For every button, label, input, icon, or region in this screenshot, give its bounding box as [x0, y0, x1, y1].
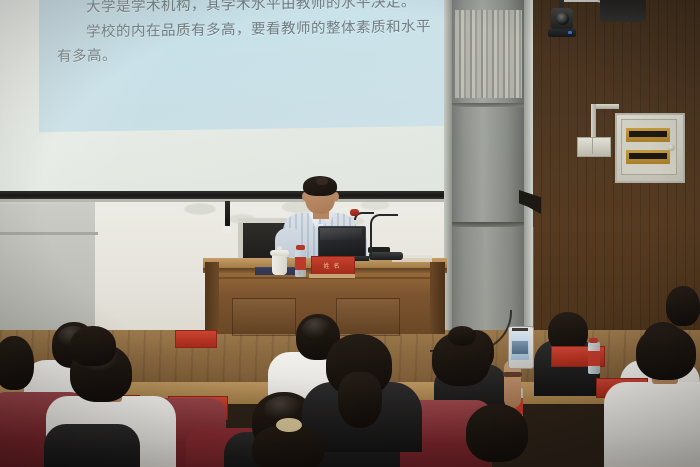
left-wall-rail	[0, 232, 98, 235]
ponytail	[338, 372, 382, 428]
podium-right-side	[430, 262, 445, 334]
screen-pull-cord-icon[interactable]	[225, 201, 230, 227]
switch-box-divider	[592, 138, 593, 154]
breaker-row-upper	[629, 131, 667, 137]
podium-panel-right	[336, 298, 400, 336]
audience-placard-4	[175, 330, 217, 348]
shoulders	[44, 424, 140, 467]
head	[70, 326, 116, 366]
water-bottle-cap	[296, 245, 305, 250]
shoulders	[604, 382, 700, 467]
column-left-edge	[444, 0, 452, 352]
column-band-upper	[450, 103, 528, 107]
slide-line-2: 学校的内在品质有多高，要看教师的整体素质和水平有多高。	[57, 16, 435, 69]
head	[0, 336, 34, 390]
smartphone-earpiece	[512, 328, 528, 331]
column-right-edge	[524, 0, 533, 352]
chair-top-edge	[238, 218, 288, 223]
breaker-row-lower	[629, 153, 667, 159]
head	[636, 326, 696, 380]
water-bottle-label	[295, 257, 306, 270]
conduit-vertical	[591, 104, 596, 139]
hair-bun	[448, 326, 476, 346]
teacup-knob	[277, 246, 282, 251]
screen-bottom-trim	[0, 199, 466, 202]
podium-left-side	[205, 262, 219, 334]
screen-pull-knob[interactable]	[223, 226, 231, 233]
projected-slide: 大学是学术机构，其学术水平由教师的水平决定。 学校的内在品质有多高，要看教师的整…	[39, 0, 449, 132]
smartphone-viewfinder-image	[512, 341, 528, 354]
microphone-head-icon	[350, 209, 359, 216]
head	[666, 286, 700, 326]
placard-stand	[309, 274, 355, 278]
panel-latch-icon[interactable]	[668, 144, 675, 151]
slide-text-block: 大学是学术机构，其学术水平由教师的水平决定。 学校的内在品质有多高，要看教师的整…	[39, 0, 449, 72]
teacup	[272, 254, 287, 275]
speaker-name-placard-text: 姓 名	[311, 261, 353, 270]
wall-switch-box[interactable]	[577, 137, 611, 157]
laptop-screen-glare	[320, 228, 362, 240]
ceiling-speaker-box	[600, 0, 646, 22]
hair-bow	[276, 418, 302, 432]
camera-lens-icon	[556, 12, 569, 25]
audience-bottle-2-label	[588, 351, 600, 366]
column-fluted-cladding	[455, 10, 522, 98]
column-band-lower	[448, 222, 532, 227]
head	[466, 404, 528, 462]
podium-panel-left	[232, 298, 296, 336]
camera-led-indicator	[568, 31, 572, 34]
speaker-hair-highlight	[316, 177, 328, 185]
projection-screen: 大学是学术机构，其学术水平由教师的水平决定。 学校的内在品质有多高，要看教师的整…	[0, 0, 462, 196]
head-highlight	[302, 318, 332, 340]
microphone-gooseneck	[370, 214, 398, 256]
audience-bottle-2-cap	[589, 338, 598, 343]
lecture-hall-photo: 大学是学术机构，其学术水平由教师的水平决定。 学校的内在品质有多高，要看教师的整…	[0, 0, 700, 467]
wrist-band	[503, 372, 522, 377]
